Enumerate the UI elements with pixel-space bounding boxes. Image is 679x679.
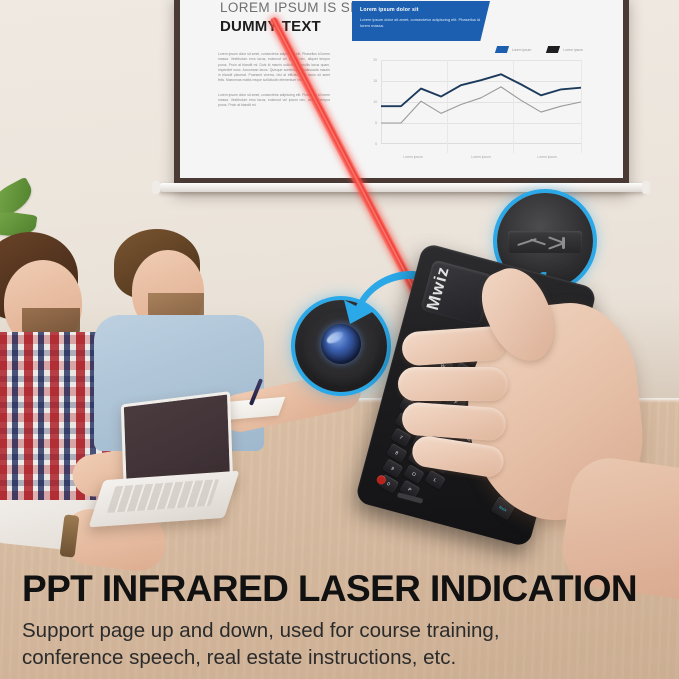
chart-y-tick: 5 [357, 121, 377, 125]
banner-heading: Lorem ipsum dolor sit [360, 7, 482, 13]
subline-line-1: Support page up and down, used for cours… [22, 617, 500, 644]
chart-x-tick: Lorem ipsum [471, 155, 491, 159]
chart-x-tick: Lorem ipsum [403, 155, 423, 159]
screen-roller-bar [158, 183, 646, 192]
legend-swatch-blue [495, 46, 509, 53]
projector-screen: LOREM IPSUM IS SIMPLY DUMMY TEXT Lorem i… [174, 0, 629, 190]
legend-item: Lorem ipsum [496, 46, 532, 53]
legend-swatch-dark [546, 46, 560, 53]
chart-line-series-0 [381, 74, 581, 106]
ring-finger [401, 401, 507, 441]
legend-label: Lorem ipsum [512, 48, 532, 52]
lens-glass [321, 324, 361, 364]
laptop-keyboard [107, 479, 219, 513]
screen-surface: LOREM IPSUM IS SIMPLY DUMMY TEXT Lorem i… [180, 0, 623, 178]
chart-y-tick: 15 [357, 79, 377, 83]
subline: Support page up and down, used for cours… [22, 617, 500, 672]
middle-finger [398, 367, 508, 401]
product-marketing-image: LOREM IPSUM IS SIMPLY DUMMY TEXT Lorem i… [0, 0, 679, 679]
chart-x-tick: Lorem ipsum [537, 155, 557, 159]
index-finger [401, 325, 507, 366]
roller-cap-right [642, 181, 650, 194]
chart-y-tick: 0 [357, 142, 377, 146]
hand-holding-device [396, 243, 679, 573]
legend-item: Lorem ipsum [547, 46, 583, 53]
chart-y-tick: 20 [357, 58, 377, 62]
slide-line-chart: Lorem ipsum Lorem ipsum [355, 46, 585, 166]
chart-plot-area: 20 15 10 5 0 Lorem ipsum Lorem ipsum Lor… [381, 60, 581, 144]
caption-block: PPT INFRARED LASER INDICATION Support pa… [0, 560, 679, 679]
chart-legend: Lorem ipsum Lorem ipsum [496, 46, 583, 53]
slide-blue-banner: Lorem ipsum dolor sit Lorem ipsum dolor … [352, 1, 490, 41]
headline: PPT INFRARED LASER INDICATION [22, 568, 637, 610]
chart-vertical-separator [581, 60, 582, 153]
chart-y-tick: 10 [357, 100, 377, 104]
legend-label: Lorem ipsum [563, 48, 583, 52]
presentation-slide: LOREM IPSUM IS SIMPLY DUMMY TEXT Lorem i… [180, 0, 623, 178]
roller-cap-left [152, 181, 160, 194]
subline-line-2: conference speech, real estate instructi… [22, 644, 500, 671]
banner-body: Lorem ipsum dolor sit amet, consectetur … [360, 17, 482, 29]
chart-series-svg [381, 60, 581, 144]
